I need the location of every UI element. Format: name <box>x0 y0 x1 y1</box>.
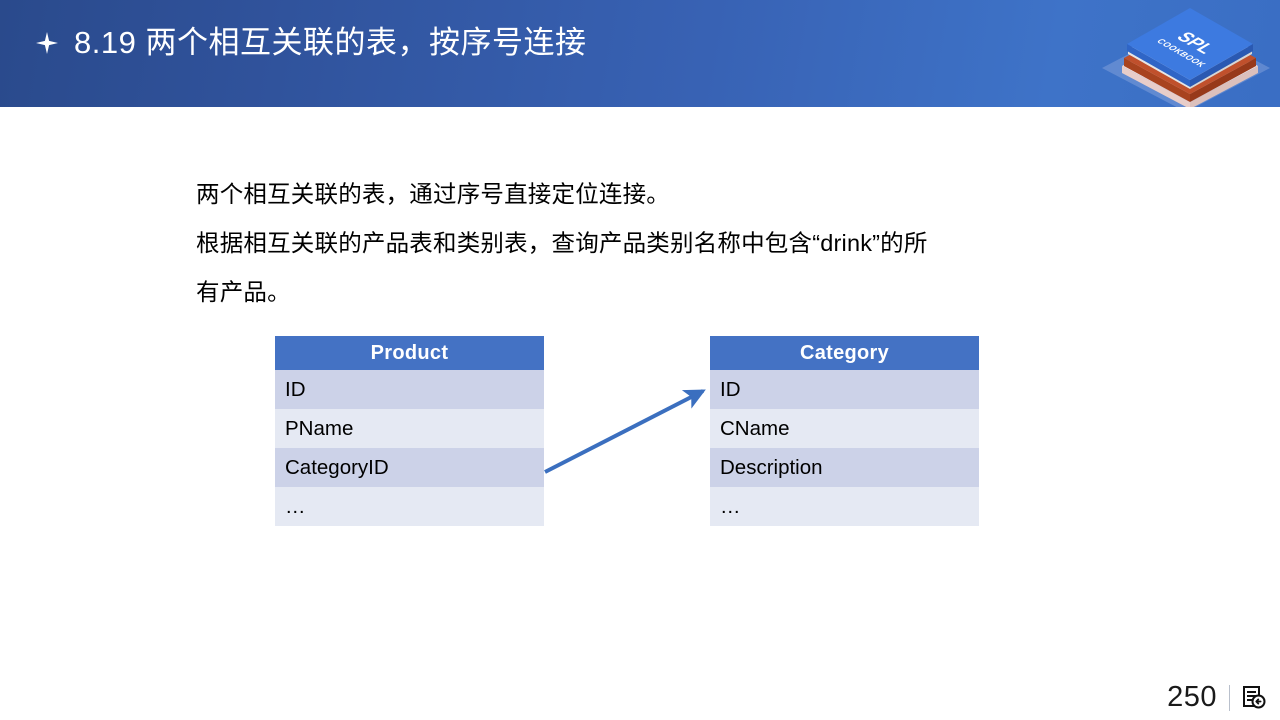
sparkle-icon <box>36 32 58 54</box>
body-line-2: 根据相互关联的产品表和类别表，查询产品类别名称中包含“drink”的所 <box>196 219 1086 268</box>
table-row: ID <box>710 370 979 409</box>
er-diagram: Product ID PName CategoryID … Category I… <box>0 0 1280 720</box>
table-row: ID <box>275 370 544 409</box>
slide-title-row: 8.19 两个相互关联的表，按序号连接 <box>36 27 586 58</box>
footer-divider <box>1229 685 1230 711</box>
table-row: … <box>275 487 544 526</box>
slide-body-text: 两个相互关联的表，通过序号直接定位连接。 根据相互关联的产品表和类别表，查询产品… <box>196 170 1086 317</box>
spl-cookbook-logo-icon: SPL COOKBOOK <box>1094 0 1274 107</box>
body-line-3: 有产品。 <box>196 268 1086 317</box>
table-row: CategoryID <box>275 448 544 487</box>
table-row: PName <box>275 409 544 448</box>
slide-footer: 250 <box>1167 681 1266 714</box>
table-title-product: Product <box>275 336 544 370</box>
table-row: Description <box>710 448 979 487</box>
page-number: 250 <box>1167 681 1217 714</box>
body-line-1: 两个相互关联的表，通过序号直接定位连接。 <box>196 170 1086 219</box>
relation-arrow-icon <box>0 0 1280 720</box>
table-row: CName <box>710 409 979 448</box>
slide-header-bar: 8.19 两个相互关联的表，按序号连接 SPL <box>0 0 1280 107</box>
entity-table-product: Product ID PName CategoryID … <box>275 336 544 526</box>
document-back-icon[interactable] <box>1242 685 1266 711</box>
table-title-category: Category <box>710 336 979 370</box>
page-title: 8.19 两个相互关联的表，按序号连接 <box>74 27 586 58</box>
table-row: … <box>710 487 979 526</box>
entity-table-category: Category ID CName Description … <box>710 336 979 526</box>
